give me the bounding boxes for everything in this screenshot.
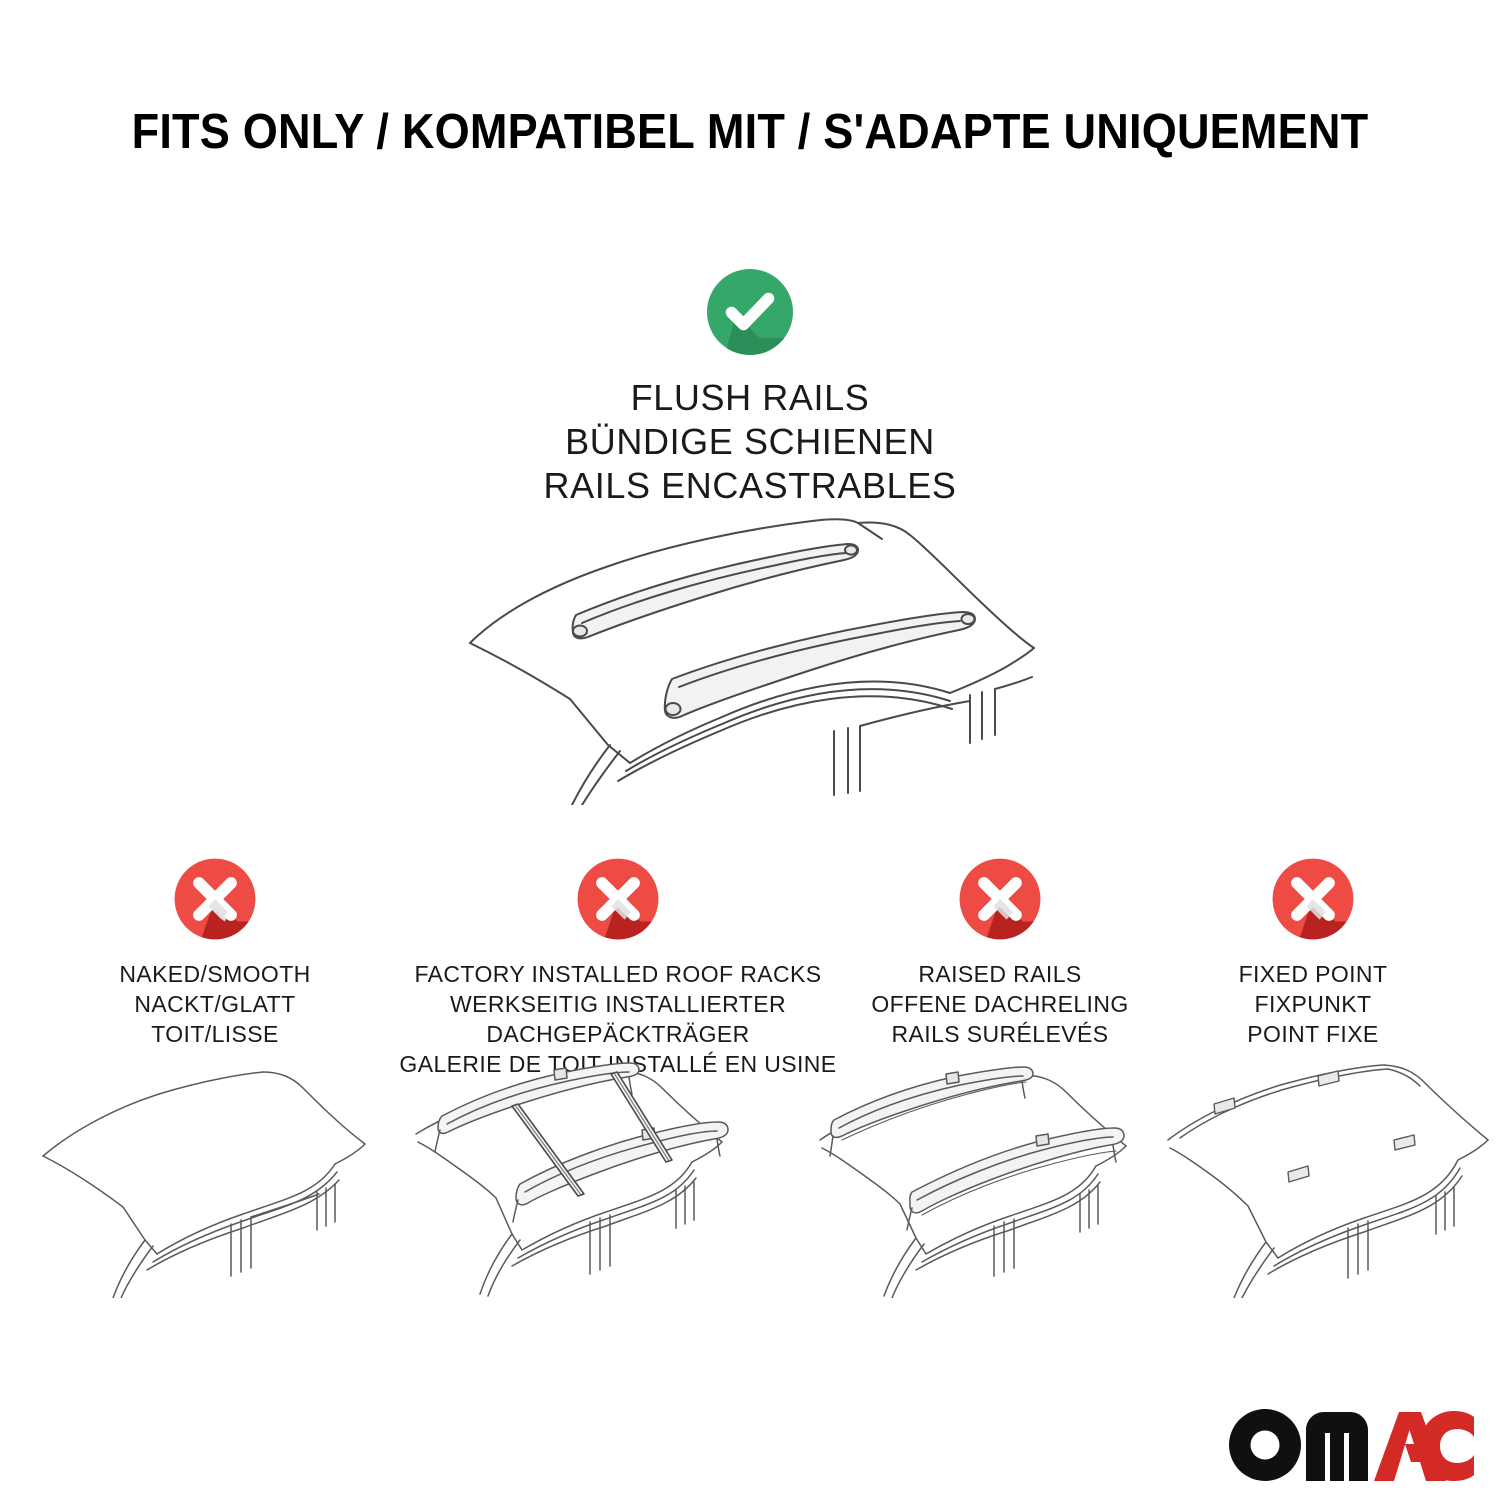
car-roof-factory-racks-illustration (400, 1048, 785, 1298)
incompatible-labels: NAKED/SMOOTH NACKT/GLATT TOIT/LISSE (45, 960, 385, 1050)
compatible-labels: FLUSH RAILS BÜNDIGE SCHIENEN RAILS ENCAS… (0, 376, 1500, 508)
omac-logo (1228, 1408, 1474, 1482)
logo-letter-o (1229, 1409, 1301, 1481)
compatible-label-de: BÜNDIGE SCHIENEN (0, 420, 1500, 464)
check-circle-icon (700, 262, 800, 362)
label-line-1: FACTORY INSTALLED ROOF RACKS (388, 960, 848, 990)
car-roof-bare-illustration (35, 1048, 420, 1298)
page-title: FITS ONLY / KOMPATIBEL MIT / S'ADAPTE UN… (60, 104, 1440, 160)
car-roof-flush-rails-illustration (430, 495, 1090, 805)
label-line-2: NACKT/GLATT (45, 990, 385, 1020)
compatible-label-en: FLUSH RAILS (0, 376, 1500, 420)
x-circle-icon (571, 852, 665, 946)
compatible-section: FLUSH RAILS BÜNDIGE SCHIENEN RAILS ENCAS… (0, 262, 1500, 508)
infographic-page: FITS ONLY / KOMPATIBEL MIT / S'ADAPTE UN… (0, 0, 1500, 1500)
label-line-1: FIXED POINT (1160, 960, 1466, 990)
label-line-2: OFFENE DACHRELING (842, 990, 1158, 1020)
label-line-2: WERKSEITIG INSTALLIERTER (388, 990, 848, 1020)
x-circle-icon (168, 852, 262, 946)
incompatible-item-naked-smooth: NAKED/SMOOTH NACKT/GLATT TOIT/LISSE (45, 852, 385, 1050)
label-line-3: TOIT/LISSE (45, 1020, 385, 1050)
incompatible-item-raised-rails: RAISED RAILS OFFENE DACHRELING RAILS SUR… (842, 852, 1158, 1050)
label-line-3: DACHGEPÄCKTRÄGER (388, 1020, 848, 1050)
logo-letter-m (1306, 1412, 1368, 1481)
label-line-2: FIXPUNKT (1160, 990, 1466, 1020)
car-roof-raised-rails-illustration (800, 1048, 1185, 1298)
label-line-1: NAKED/SMOOTH (45, 960, 385, 990)
label-line-1: RAISED RAILS (842, 960, 1158, 990)
incompatible-labels: FIXED POINT FIXPUNKT POINT FIXE (1160, 960, 1466, 1050)
label-line-3: POINT FIXE (1160, 1020, 1466, 1050)
x-circle-icon (953, 852, 1047, 946)
x-circle-icon (1266, 852, 1360, 946)
label-line-3: RAILS SURÉLEVÉS (842, 1020, 1158, 1050)
car-roof-fixed-point-illustration (1150, 1048, 1500, 1298)
incompatible-item-fixed-point: FIXED POINT FIXPUNKT POINT FIXE (1160, 852, 1466, 1050)
incompatible-item-factory-installed-roof-racks: FACTORY INSTALLED ROOF RACKS WERKSEITIG … (388, 852, 848, 1080)
incompatible-labels: RAISED RAILS OFFENE DACHRELING RAILS SUR… (842, 960, 1158, 1050)
incompatible-illustrations-row (0, 1048, 1500, 1298)
